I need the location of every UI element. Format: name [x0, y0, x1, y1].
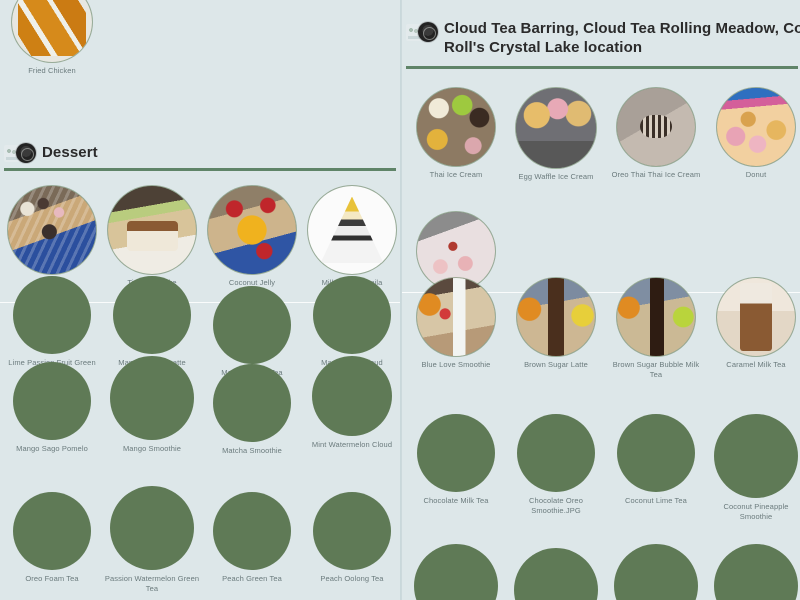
- image-placeholder[interactable]: [13, 362, 91, 440]
- item-label: Blue Love Smoothie: [408, 360, 504, 370]
- tiramisu-cake-photo[interactable]: [108, 186, 196, 274]
- food-photo-art: [617, 278, 695, 356]
- item-label: Mango Sago Pomelo: [4, 444, 100, 454]
- list-item[interactable]: Passion Watermelon Green Tea: [104, 486, 200, 594]
- list-item[interactable]: Macarons: [4, 186, 100, 288]
- list-item[interactable]: Egg Waffle Ice Cream: [508, 88, 604, 182]
- food-photo-art: [208, 186, 296, 274]
- item-label: Passion Watermelon Green Tea: [104, 574, 200, 594]
- section-header-locations: Cloud Tea Barring, Cloud Tea Rolling Mea…: [406, 20, 800, 58]
- image-placeholder[interactable]: [313, 492, 391, 570]
- list-item[interactable]: Chocolate Milk Tea: [408, 414, 504, 506]
- food-photo-art: [417, 88, 495, 166]
- image-placeholder[interactable]: [714, 544, 798, 600]
- image-placeholder[interactable]: [213, 492, 291, 570]
- list-item[interactable]: Fried Chicken: [4, 0, 100, 76]
- drinks-row-2: Mango Sago Pomelo Mango Smoothie Matcha …: [0, 362, 400, 472]
- oreo-thai-ice-cream-photo[interactable]: [617, 88, 695, 166]
- item-label: Oreo Foam Tea: [4, 574, 100, 584]
- list-item[interactable]: Mango Sago Pomelo: [4, 362, 100, 454]
- brown-sugar-bubble-milk-tea-photo[interactable]: [617, 278, 695, 356]
- image-placeholder[interactable]: [514, 548, 598, 600]
- food-photo-art: [617, 88, 695, 166]
- list-item[interactable]: Oreo Foam Tea: [4, 492, 100, 584]
- list-item[interactable]: Peach Green Tea: [204, 492, 300, 584]
- item-label: Egg Waffle Ice Cream: [508, 172, 604, 182]
- food-photo-art: [8, 186, 96, 274]
- list-item[interactable]: Peach Oolong Tea: [304, 492, 400, 584]
- mille-crepe-vanila-photo[interactable]: [308, 186, 396, 274]
- image-placeholder[interactable]: [113, 276, 191, 354]
- list-item[interactable]: Oreo Thai Thai Ice Cream: [608, 88, 704, 180]
- image-placeholder[interactable]: [313, 276, 391, 354]
- item-label: Thai Ice Cream: [408, 170, 504, 180]
- list-item[interactable]: Brown Sugar Bubble Milk Tea: [608, 278, 704, 380]
- image-placeholder[interactable]: [13, 492, 91, 570]
- drinks-row-3: Oreo Foam Tea Passion Watermelon Green T…: [0, 492, 400, 600]
- item-label: Peach Oolong Tea: [304, 574, 400, 584]
- section-title: Cloud Tea Barring, Cloud Tea Rolling Mea…: [444, 20, 800, 58]
- list-item[interactable]: [608, 544, 704, 600]
- drinks-row-3: [402, 544, 800, 600]
- item-label: Caramel Milk Tea: [708, 360, 800, 370]
- item-label: Mango Smoothie: [104, 444, 200, 454]
- drinks-overlay-band: Lime Passion Fruit Green Tea Mango Coffe…: [0, 302, 400, 600]
- food-photo-art: [516, 88, 596, 168]
- item-label: Oreo Thai Thai Ice Cream: [608, 170, 704, 180]
- item-label: Peach Green Tea: [204, 574, 300, 584]
- image-placeholder[interactable]: [110, 356, 194, 440]
- image-placeholder[interactable]: [312, 356, 392, 436]
- coco-roll-dark-logo-icon: [16, 143, 36, 163]
- item-label: Mint Watermelon Cloud: [304, 440, 400, 450]
- list-item[interactable]: Coconut Jelly: [204, 186, 300, 288]
- right-panel: Cloud Tea Barring, Cloud Tea Rolling Mea…: [401, 0, 800, 600]
- menu-catalog-page: Fried Chicken Dessert Macarons: [0, 0, 800, 600]
- section-divider: [4, 168, 396, 171]
- list-item[interactable]: Matcha Smoothie: [204, 364, 300, 456]
- image-placeholder[interactable]: [213, 364, 291, 442]
- section-divider: [406, 66, 798, 69]
- image-placeholder[interactable]: [213, 286, 291, 364]
- egg-waffle-ice-cream-photo[interactable]: [516, 88, 596, 168]
- list-item[interactable]: Thai Ice Cream: [408, 88, 504, 180]
- logo-pair: [406, 22, 438, 42]
- food-photo-art: [308, 186, 396, 274]
- list-item[interactable]: Mango Milk Cloud: [304, 276, 400, 368]
- list-item[interactable]: Donut: [708, 88, 800, 180]
- location-dessert-grid: Thai Ice Cream Egg Waffle Ice Cream Oreo…: [402, 88, 800, 198]
- drinks-row-1: Blue Love Smoothie Brown Sugar Latte Bro…: [402, 294, 800, 374]
- caramel-milk-tea-photo[interactable]: [717, 278, 795, 356]
- food-photo-art: [717, 278, 795, 356]
- list-item[interactable]: Tiramisu Cake: [104, 186, 200, 288]
- list-item[interactable]: Coconut Pineapple Smoothie: [708, 414, 800, 522]
- panel-separator: [400, 0, 401, 600]
- food-photo-art: [108, 186, 196, 274]
- list-item[interactable]: Brown Sugar Latte: [508, 278, 604, 370]
- image-placeholder[interactable]: [714, 414, 798, 498]
- food-photo-art: [417, 278, 495, 356]
- coconut-jelly-photo[interactable]: [208, 186, 296, 274]
- brown-sugar-latte-photo[interactable]: [517, 278, 595, 356]
- image-placeholder[interactable]: [417, 414, 495, 492]
- donut-photo[interactable]: [717, 88, 795, 166]
- item-label: Brown Sugar Latte: [508, 360, 604, 370]
- thai-ice-cream-photo[interactable]: [417, 88, 495, 166]
- list-item[interactable]: Mille-crepe Vanila: [304, 186, 400, 288]
- item-label: Chocolate Oreo Smoothie.JPG: [508, 496, 604, 516]
- drinks-overlay-band: Blue Love Smoothie Brown Sugar Latte Bro…: [402, 292, 800, 600]
- list-item[interactable]: Mango Coffee Latte: [104, 276, 200, 368]
- food-photo-art: [517, 278, 595, 356]
- list-item[interactable]: Caramel Milk Tea: [708, 278, 800, 370]
- list-item[interactable]: Chocolate Oreo Smoothie.JPG: [508, 414, 604, 516]
- drinks-row-1: Lime Passion Fruit Green Tea Mango Coffe…: [0, 302, 400, 364]
- image-placeholder[interactable]: [617, 414, 695, 492]
- drinks-row-2: Chocolate Milk Tea Chocolate Oreo Smooth…: [402, 414, 800, 524]
- list-item[interactable]: Mint Watermelon Cloud: [304, 356, 400, 450]
- blue-love-smoothie-photo[interactable]: [417, 278, 495, 356]
- fried-chicken-photo[interactable]: [12, 0, 92, 62]
- logo-pair: [4, 143, 36, 163]
- item-label: Coconut Lime Tea: [608, 496, 704, 506]
- item-label: Coconut Pineapple Smoothie: [708, 502, 800, 522]
- list-item[interactable]: [508, 548, 604, 600]
- list-item[interactable]: [708, 544, 800, 600]
- image-placeholder[interactable]: [614, 544, 698, 600]
- item-label: Matcha Smoothie: [204, 446, 300, 456]
- list-item[interactable]: [408, 544, 504, 600]
- item-label: Donut: [708, 170, 800, 180]
- item-label: Chocolate Milk Tea: [408, 496, 504, 506]
- section-title: Dessert: [42, 144, 98, 163]
- food-photo-art: [717, 88, 795, 166]
- item-label: Fried Chicken: [4, 66, 100, 76]
- list-item[interactable]: Coconut Lime Tea: [608, 414, 704, 506]
- food-photo-art: [12, 0, 92, 62]
- item-label: Brown Sugar Bubble Milk Tea: [608, 360, 704, 380]
- image-placeholder[interactable]: [414, 544, 498, 600]
- list-item[interactable]: Blue Love Smoothie: [408, 278, 504, 370]
- coco-roll-dark-logo-icon: [418, 22, 438, 42]
- list-item[interactable]: Mango Smoothie: [104, 356, 200, 454]
- image-placeholder[interactable]: [110, 486, 194, 570]
- section-header-dessert: Dessert: [4, 143, 334, 163]
- macarons-photo[interactable]: [8, 186, 96, 274]
- left-panel: Fried Chicken Dessert Macarons: [0, 0, 400, 600]
- image-placeholder[interactable]: [13, 276, 91, 354]
- image-placeholder[interactable]: [517, 414, 595, 492]
